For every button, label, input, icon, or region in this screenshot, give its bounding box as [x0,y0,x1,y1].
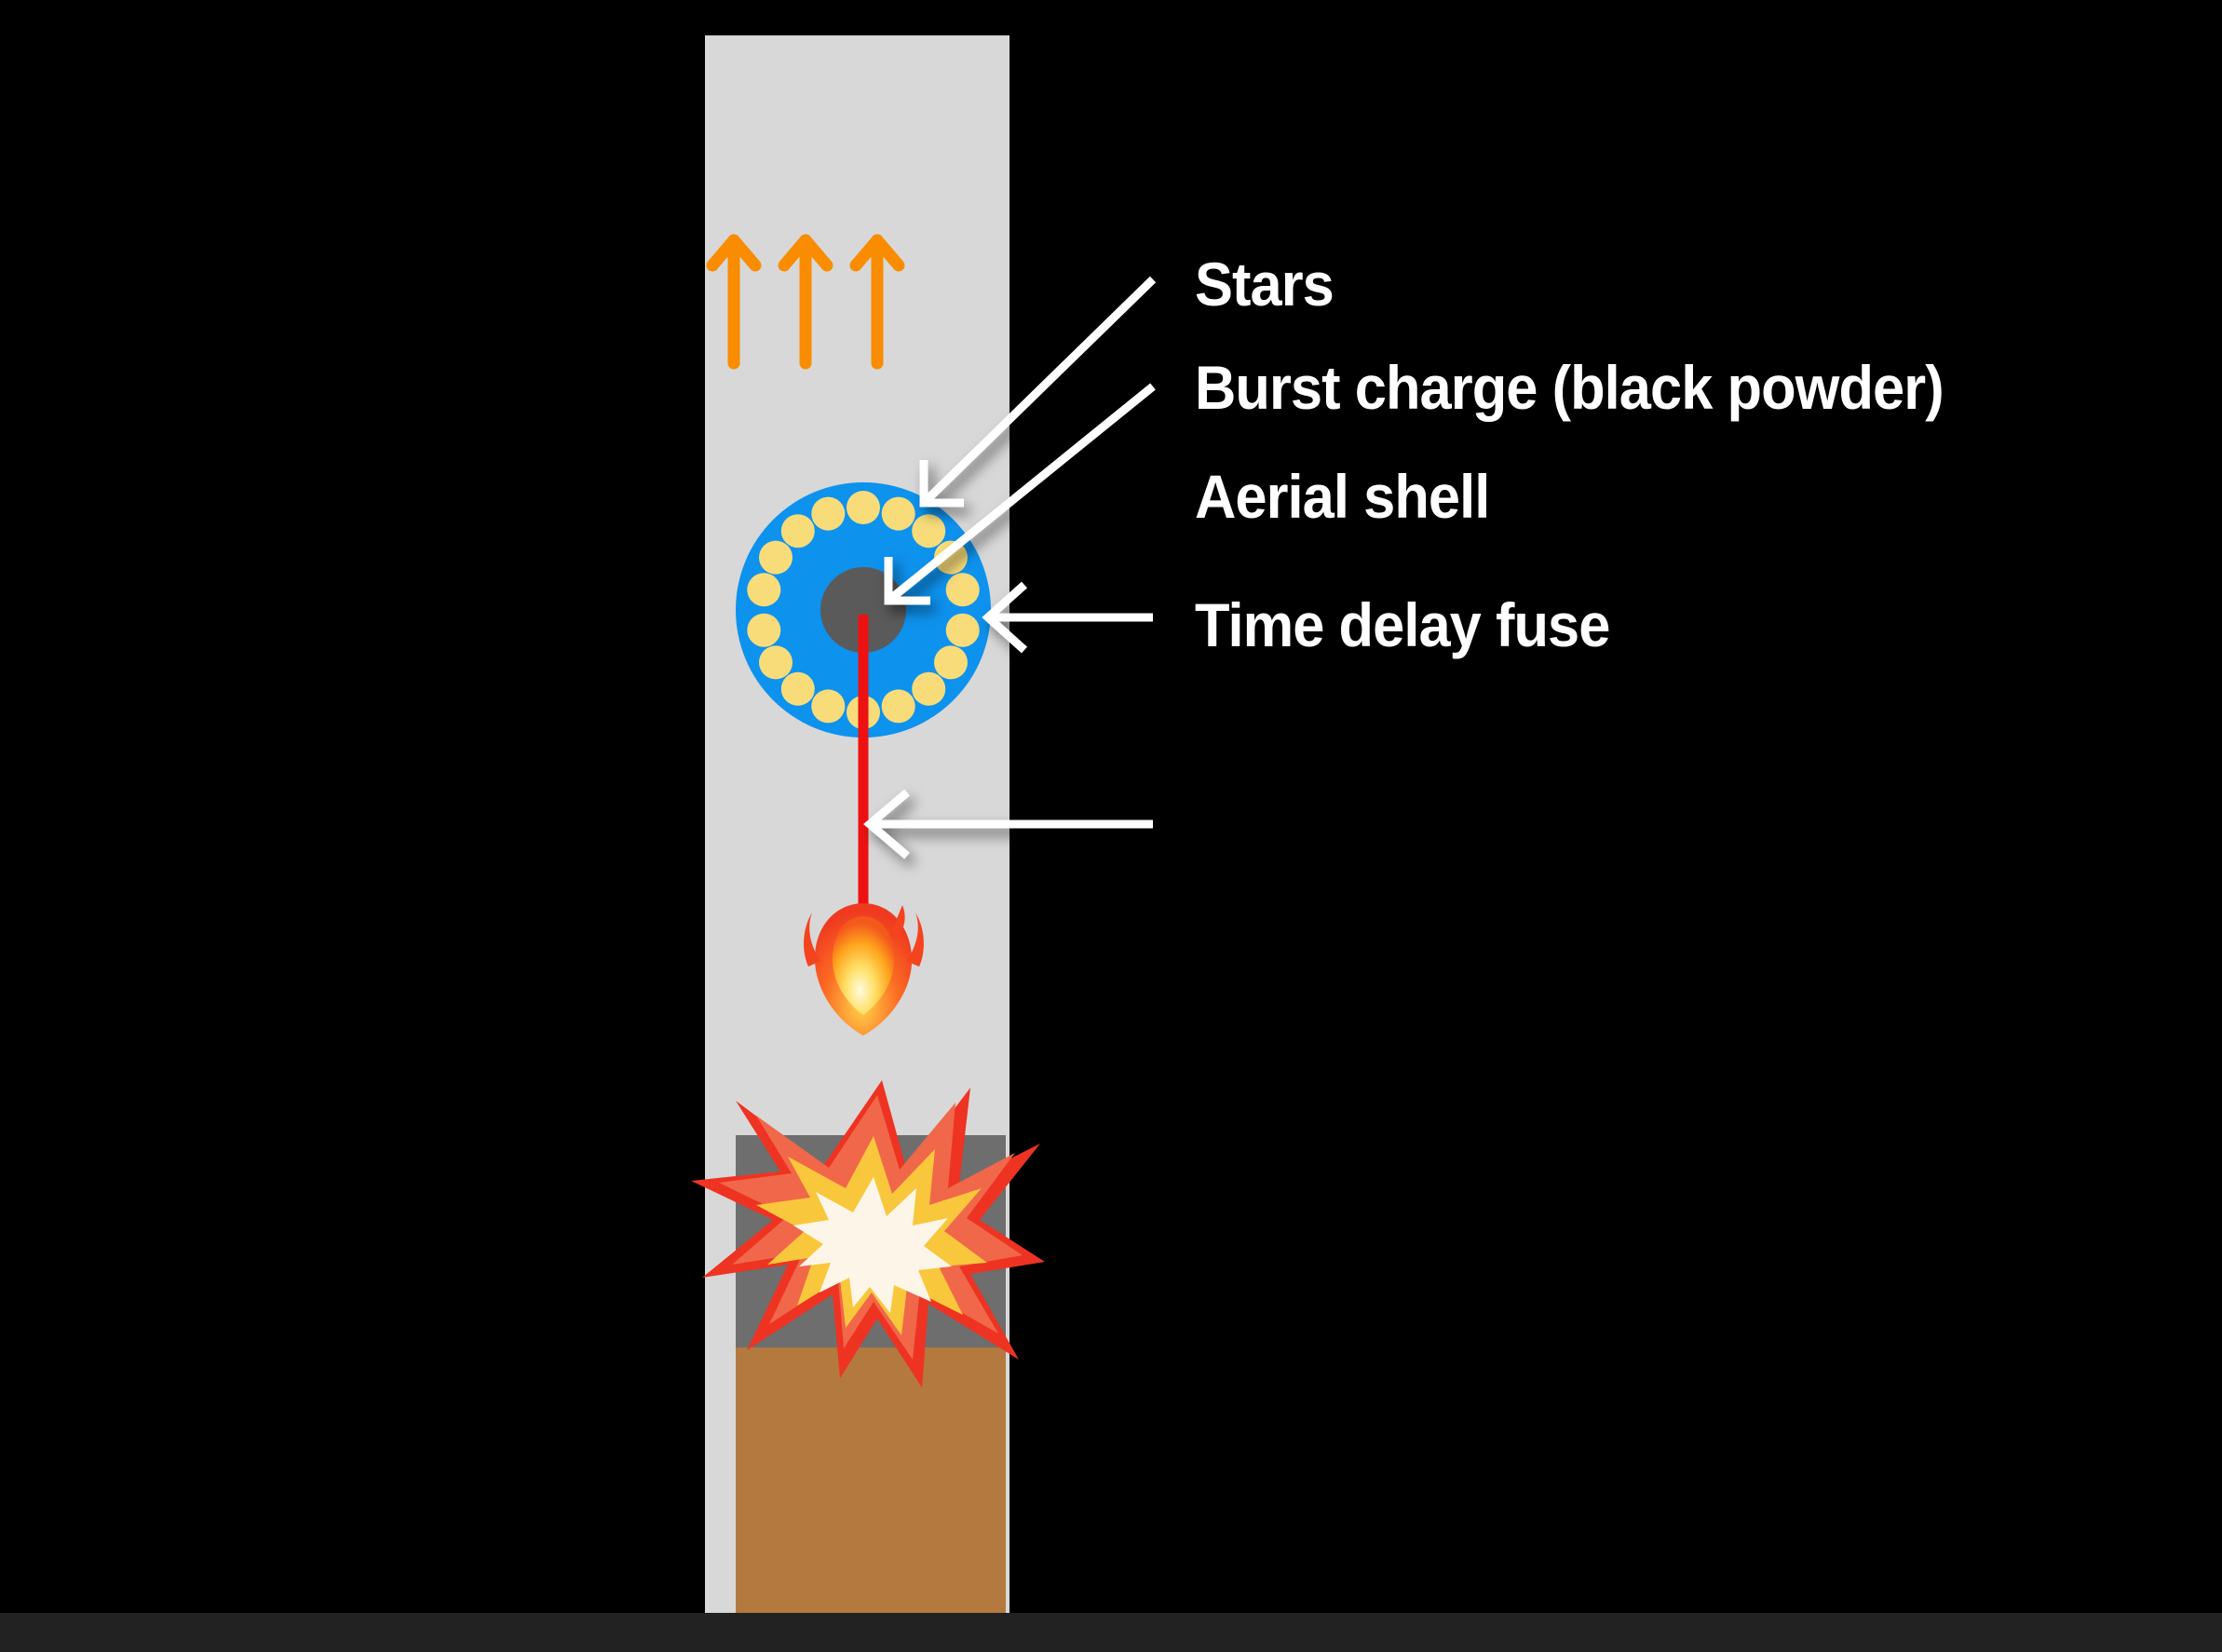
up-arrow-icon [856,240,899,363]
label-aerial-shell: Aerial shell [1195,466,1489,527]
label-burst-charge: Burst charge (black powder) [1195,357,1944,418]
label-stars: Stars [1195,253,1334,315]
up-arrow-icon [712,240,755,363]
up-arrow-icon [784,240,827,363]
label-time-delay-fuse: Time delay fuse [1195,594,1609,656]
flame-icon [782,894,945,1043]
explosion-icon [691,1080,1045,1397]
leader-aerial-shell [988,585,1153,650]
label-leader-lines [0,0,2222,1652]
bottom-chrome-bar [0,1613,2222,1652]
diagram-canvas: Stars Burst charge (black powder) Aerial… [0,0,2222,1652]
